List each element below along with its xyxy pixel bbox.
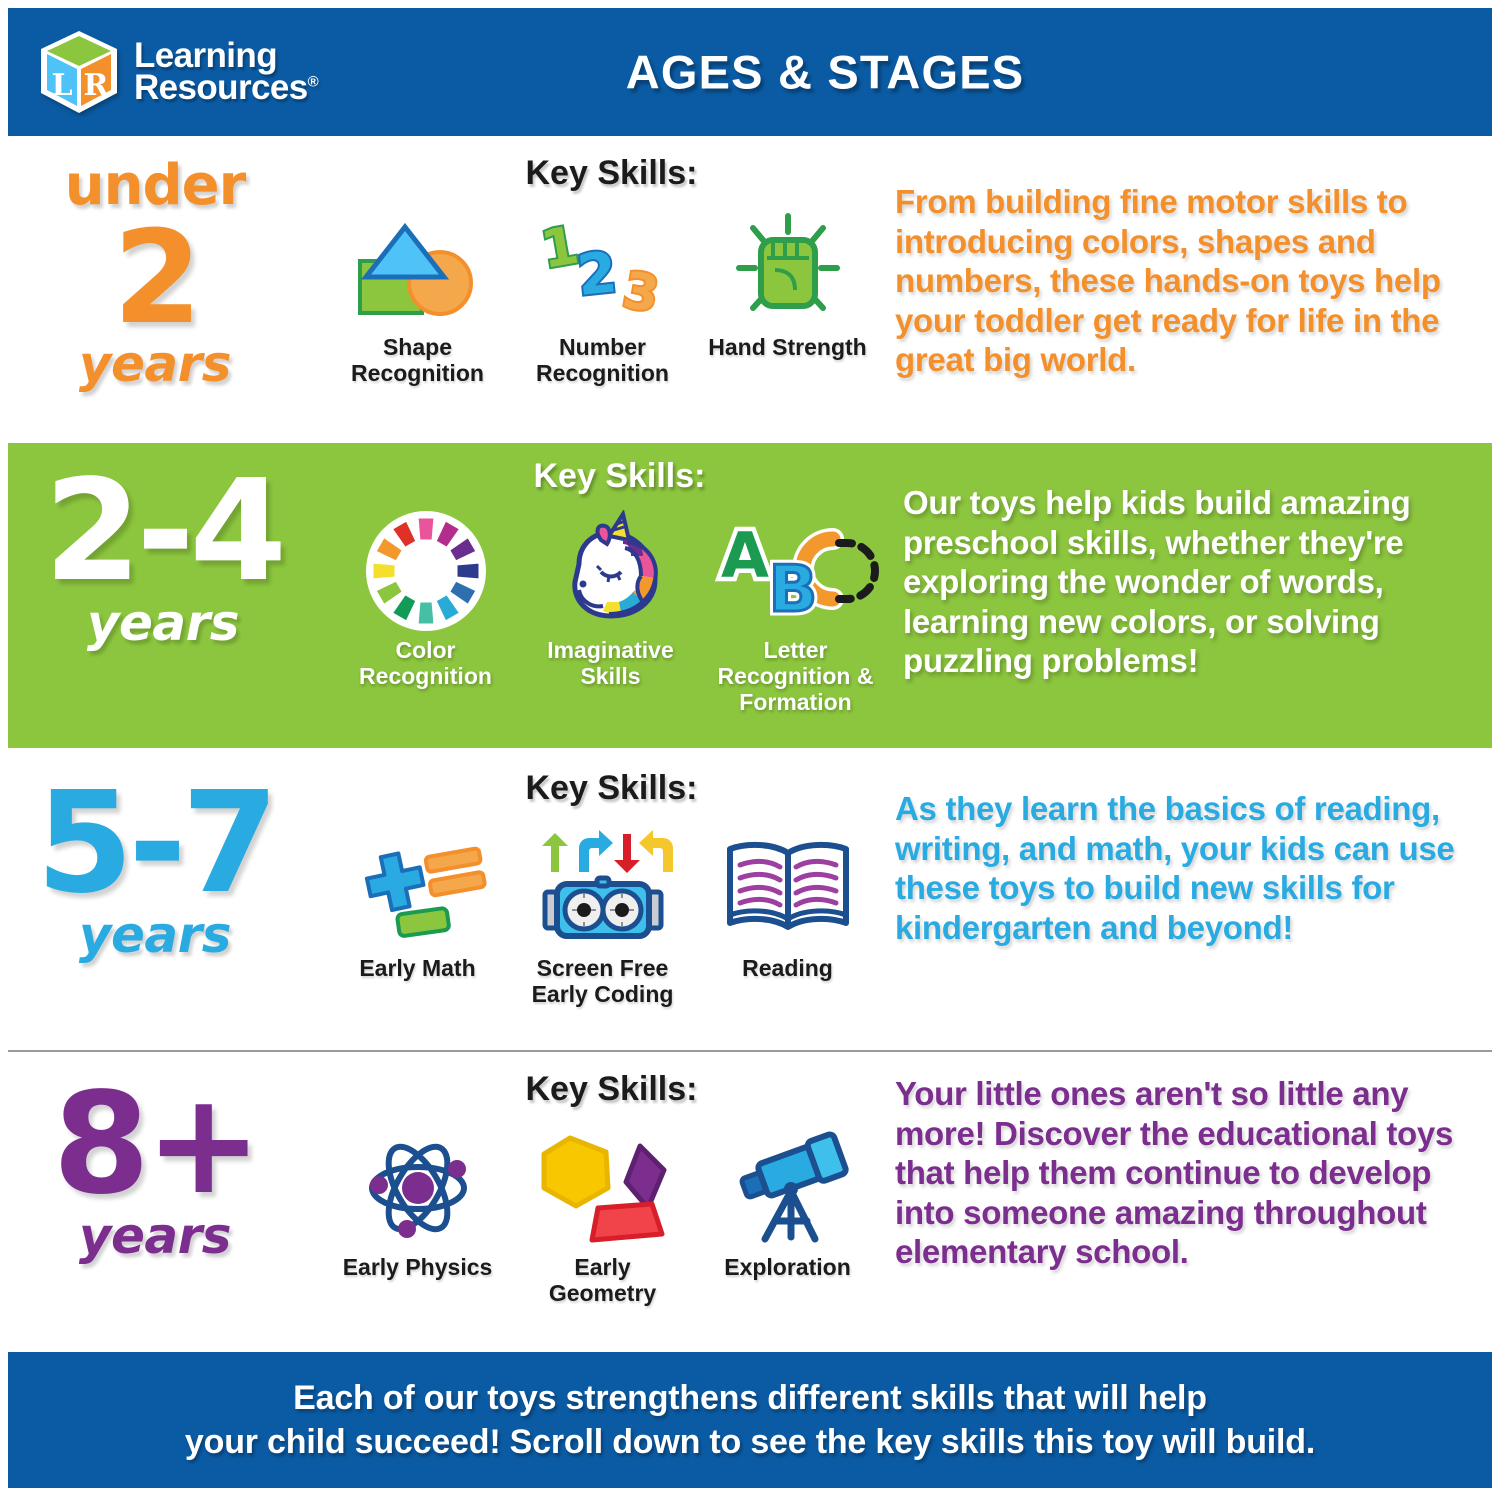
footer-message-line1: Each of our toys strengthens different s… — [185, 1376, 1315, 1420]
age-main-number: 8+ — [53, 1074, 258, 1217]
telescope-icon — [715, 1127, 861, 1249]
age-years-word: years — [79, 1211, 231, 1261]
row-divider — [8, 1050, 1492, 1052]
svg-text:3: 3 — [618, 261, 662, 323]
open-book-icon — [718, 828, 858, 950]
age-label-8-plus: 8+ years — [0, 1056, 310, 1261]
skill-early-math: Early Math — [330, 828, 505, 1008]
skill-imaginative-skills: ImaginativeSkills — [523, 510, 698, 715]
skill-color-recognition: ColorRecognition — [338, 510, 513, 715]
key-skills-heading: Key Skills: — [318, 457, 903, 496]
key-skills-heading: Key Skills: — [310, 1070, 895, 1109]
skill-label: ColorRecognition — [359, 638, 492, 690]
stage-description: As they learn the basics of reading, wri… — [895, 789, 1466, 947]
key-skills-group-8-plus: Key Skills: — [310, 1056, 895, 1307]
skill-early-geometry: EarlyGeometry — [515, 1127, 690, 1307]
description-column-8-plus: Your little ones aren't so little any mo… — [895, 1056, 1500, 1272]
skill-number-recognition: 1 2 3 NumberRecognition — [515, 207, 690, 387]
age-main-number: 5-7 — [36, 773, 274, 916]
infographic-page: L R Learning Resources® AGES & STAGES un… — [0, 0, 1500, 1496]
skill-early-physics: Early Physics — [330, 1127, 505, 1307]
stage-description: Your little ones aren't so little any mo… — [895, 1074, 1466, 1272]
age-years-word: years — [87, 598, 239, 648]
skill-label: ShapeRecognition — [351, 335, 484, 387]
age-years-word: years — [79, 339, 231, 389]
age-label-5-7: 5-7 years — [0, 755, 310, 960]
atom-icon — [355, 1127, 481, 1249]
skill-hand-strength: Hand Strength — [700, 207, 875, 387]
page-header: L R Learning Resources® AGES & STAGES — [8, 8, 1492, 136]
key-skills-heading: Key Skills: — [310, 154, 895, 193]
fist-hand-strength-icon — [723, 207, 853, 329]
page-footer: Each of our toys strengthens different s… — [8, 1352, 1492, 1488]
abc-letters-icon: A B B — [711, 510, 881, 632]
coding-robot-icon — [527, 828, 679, 950]
footer-message: Each of our toys strengthens different s… — [185, 1376, 1315, 1464]
skill-label: ImaginativeSkills — [547, 638, 674, 690]
skill-reading: Reading — [700, 828, 875, 1008]
math-symbols-icon — [348, 828, 488, 950]
description-column-under-2: From building fine motor skills to intro… — [895, 140, 1500, 380]
age-label-under-2: under 2 years — [0, 140, 310, 389]
unicorn-icon — [545, 510, 677, 632]
key-skills-group-5-7: Key Skills: — [310, 755, 895, 1008]
footer-message-line2: your child succeed! Scroll down to see t… — [185, 1420, 1315, 1464]
svg-text:B: B — [768, 553, 817, 627]
skill-label: Hand Strength — [708, 335, 866, 361]
skill-shape-recognition: ShapeRecognition — [330, 207, 505, 387]
skill-exploration: Exploration — [700, 1127, 875, 1307]
key-skills-group-2-4: Key Skills: — [318, 443, 903, 715]
skill-label: Early Math — [359, 956, 475, 982]
page-title: AGES & STAGES — [8, 45, 1492, 100]
age-main-number: 2 — [113, 214, 197, 345]
key-skills-heading: Key Skills: — [310, 769, 895, 808]
description-column-5-7: As they learn the basics of reading, wri… — [895, 755, 1500, 947]
age-stage-row-2-4: 2-4 years Key Skills: — [8, 443, 1492, 748]
skill-label: Early Physics — [343, 1255, 493, 1281]
skill-label: NumberRecognition — [536, 335, 669, 387]
shapes-icon — [348, 207, 488, 329]
age-stage-row-8-plus: 8+ years Key Skills: — [0, 1056, 1500, 1346]
age-years-word: years — [79, 910, 231, 960]
geometry-shapes-icon — [528, 1127, 678, 1249]
age-stage-row-5-7: 5-7 years Key Skills: — [0, 755, 1500, 1048]
skill-screen-free-early-coding: Screen FreeEarly Coding — [515, 828, 690, 1008]
description-column-2-4: Our toys help kids build amazing prescho… — [903, 443, 1492, 681]
svg-text:2: 2 — [574, 240, 620, 309]
skill-label: Exploration — [724, 1255, 851, 1281]
skill-label: EarlyGeometry — [549, 1255, 656, 1307]
color-wheel-icon — [364, 510, 488, 632]
svg-text:A: A — [721, 519, 769, 592]
age-main-number: 2-4 — [44, 461, 282, 604]
age-label-2-4: 2-4 years — [8, 443, 318, 648]
skill-label: LetterRecognition &Formation — [718, 638, 874, 715]
skill-label: Reading — [742, 956, 833, 982]
key-skills-group-under-2: Key Skills: ShapeRecognition — [310, 140, 895, 387]
stage-description: From building fine motor skills to intro… — [895, 182, 1466, 380]
age-stage-row-under-2: under 2 years Key Skills: ShapeRecogniti… — [0, 140, 1500, 440]
stage-description: Our toys help kids build amazing prescho… — [903, 483, 1458, 681]
skill-letter-recognition-formation: A B B LetterRecognition &Formation — [708, 510, 883, 715]
numbers-123-icon: 1 2 3 — [533, 207, 673, 329]
skill-label: Screen FreeEarly Coding — [532, 956, 674, 1008]
